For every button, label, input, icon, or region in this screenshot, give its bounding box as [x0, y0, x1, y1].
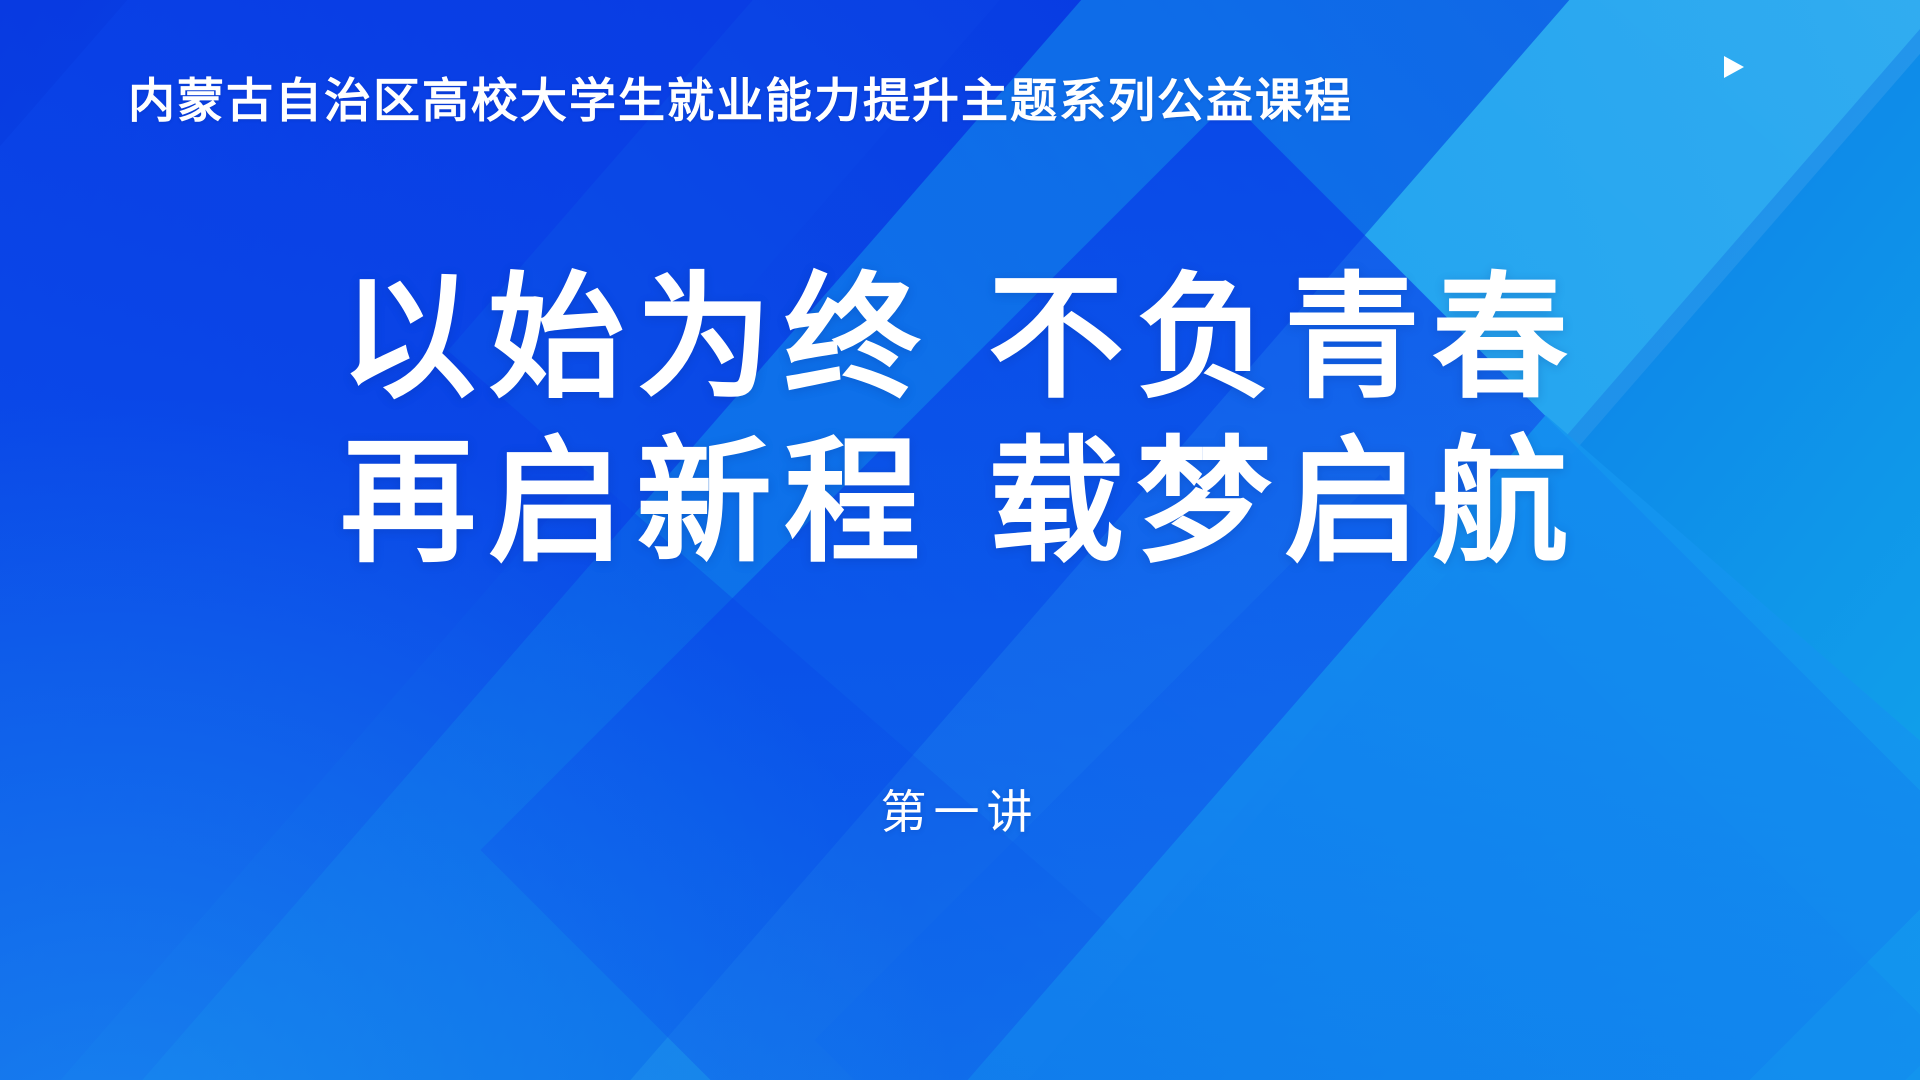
headline-line-1: 以始为终不负青春 [0, 272, 1920, 408]
lecture-number-label: 第一讲 [0, 776, 1920, 842]
headline-line-2: 再启新程载梦启航 [0, 436, 1920, 572]
course-cover-poster: 内蒙古自治区高校大学生就业能力提升主题系列公益课程 以始为终不负青春 再启新程载… [0, 0, 1920, 1080]
headline-line-1-left: 以始为终 [340, 265, 932, 415]
play-triangle-icon [1722, 54, 1746, 80]
headline-block: 以始为终不负青春 再启新程载梦启航 [0, 272, 1920, 572]
headline-line-2-right: 载梦启航 [988, 429, 1580, 579]
course-title: 内蒙古自治区高校大学生就业能力提升主题系列公益课程 [128, 62, 1353, 131]
headline-line-2-left: 再启新程 [340, 429, 932, 579]
headline-line-1-right: 不负青春 [988, 265, 1580, 415]
poster-content: 内蒙古自治区高校大学生就业能力提升主题系列公益课程 以始为终不负青春 再启新程载… [0, 0, 1920, 1080]
